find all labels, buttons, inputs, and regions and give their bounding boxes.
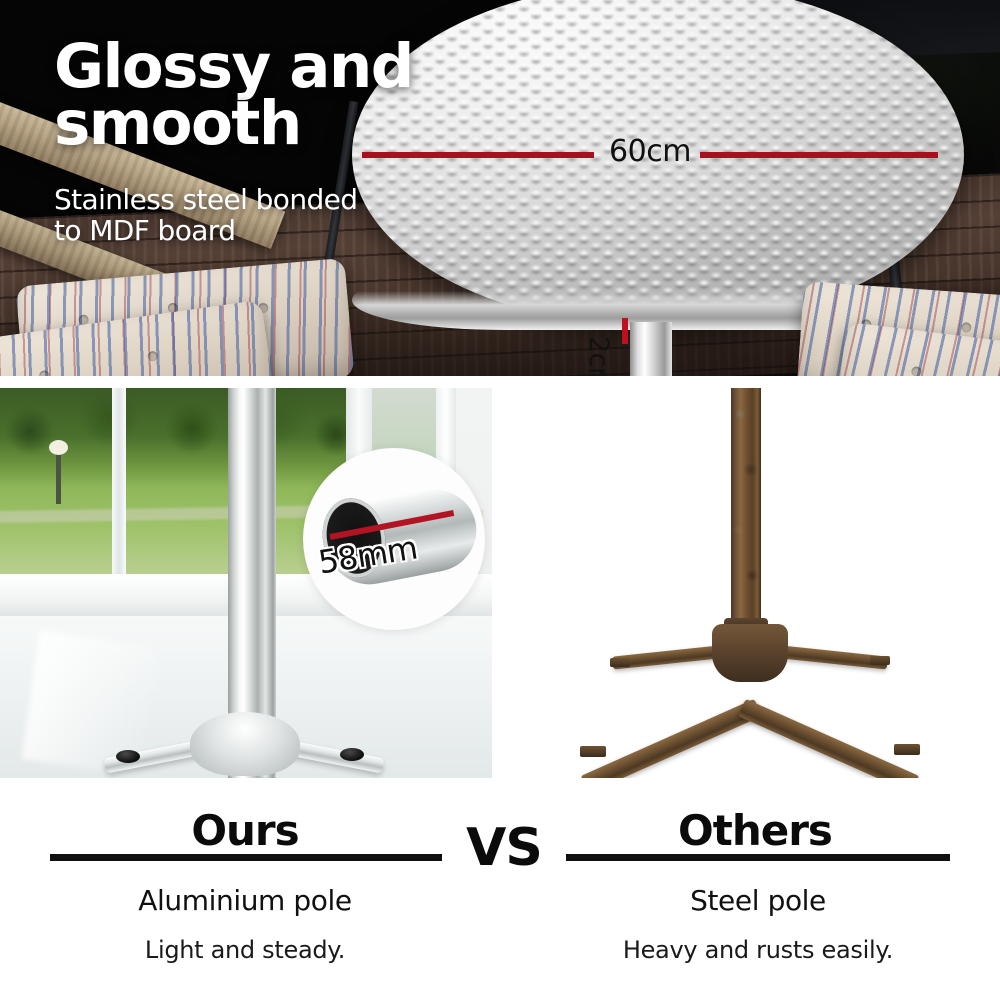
comparison-rule-right [566, 854, 950, 861]
rusty-foot-front-right [894, 744, 920, 755]
hero-headline-line-1: Glossy and [54, 38, 474, 95]
rusty-foot-front-left [580, 746, 606, 757]
aluminium-base-hub [190, 712, 300, 776]
comparison-title-others: Others [630, 806, 880, 855]
garden-view [0, 388, 354, 574]
window-mullion-left [112, 388, 126, 588]
diameter-dimension-line-left [362, 152, 594, 158]
comparison-subtitle-others: Steel pole [608, 884, 908, 917]
rusty-base-hub [712, 624, 788, 682]
aluminium-foot-back-right [340, 748, 364, 761]
comparison-vs-separator: VS [450, 818, 558, 878]
diameter-dimension-label: 60cm [600, 134, 700, 169]
comparison-section: Ours Others VS Aluminium pole Steel pole… [0, 778, 1000, 1000]
comparison-rule-left [50, 854, 442, 861]
hero-subheadline: Stainless steel bonded to MDF board [54, 184, 474, 247]
rusty-steel-pole [731, 388, 761, 636]
product-marketing-image: 60cm 2cm Glossy and smooth Stainless ste… [0, 0, 1000, 1000]
tube-diameter-callout: 58mm [303, 448, 485, 630]
comparison-title-ours: Ours [120, 806, 370, 855]
hero-headline-line-2: smooth [54, 95, 474, 152]
garden-tree-line [0, 388, 354, 484]
aluminium-cross-base [40, 706, 450, 778]
rusty-foot-back-left [610, 658, 630, 667]
hero-photo: 60cm 2cm Glossy and smooth Stainless ste… [0, 0, 1000, 376]
thickness-dimension-label: 2cm [583, 336, 614, 376]
hero-headline: Glossy and smooth [54, 38, 474, 153]
comparison-subtitle-ours: Aluminium pole [95, 884, 395, 917]
hero-subheadline-line-2: to MDF board [54, 215, 474, 246]
garden-path [0, 505, 354, 523]
comparison-note-ours: Light and steady. [95, 936, 395, 964]
rusty-base-photo [492, 388, 1000, 778]
hero-subheadline-line-1: Stainless steel bonded [54, 184, 474, 215]
garden-lamp-post [56, 452, 61, 504]
rusty-cross-base [540, 620, 960, 770]
rusty-foot-back-right [870, 656, 890, 665]
hero-table-pole [630, 322, 672, 376]
thickness-dimension-tick [622, 318, 628, 344]
aluminium-foot-back-left [116, 750, 140, 763]
rusty-base-arm-front-right [738, 699, 919, 778]
panel-divider-gap [0, 376, 1000, 388]
comparison-note-others: Heavy and rusts easily. [608, 936, 908, 964]
diameter-dimension-line-right [700, 152, 938, 158]
rusty-base-arm-front-left [581, 699, 762, 778]
